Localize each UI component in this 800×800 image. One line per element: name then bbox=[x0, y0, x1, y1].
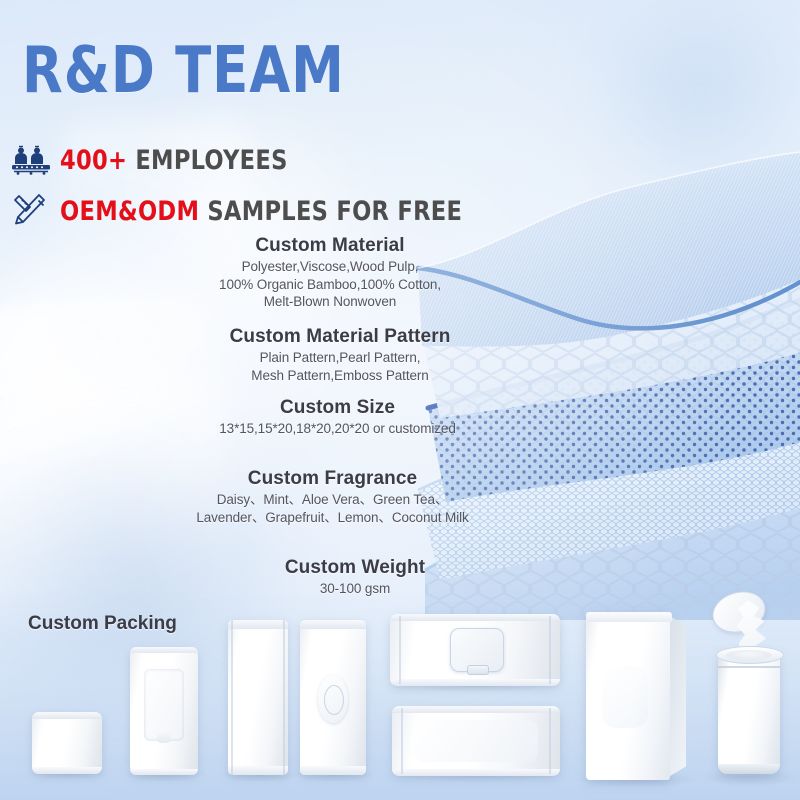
wide-pack-with-flip-lid bbox=[390, 614, 560, 686]
spec-custom-size-title: Custom Size bbox=[205, 396, 470, 420]
spec-custom-fragrance: Custom Fragrance Daisy、Mint、Aloe Vera、Gr… bbox=[195, 467, 470, 526]
badge-employees-label: 400+ EMPLOYEES bbox=[60, 145, 288, 176]
canister-open-lid bbox=[708, 585, 771, 638]
spec-custom-material: Custom Material Polyester,Viscose,Wood P… bbox=[200, 234, 460, 311]
spec-custom-weight-line-1: 30-100 gsm bbox=[250, 580, 460, 598]
plastic-flip-lid bbox=[450, 628, 504, 672]
spec-custom-material-pattern: Custom Material Pattern Plain Pattern,Pe… bbox=[215, 325, 465, 384]
tall-pouch-flip-label bbox=[144, 669, 184, 741]
oval-lid bbox=[318, 675, 348, 723]
flat-pouch-plain bbox=[228, 620, 288, 775]
spec-custom-fragrance-title: Custom Fragrance bbox=[195, 467, 470, 491]
badge-employees-count: 400+ bbox=[60, 145, 127, 176]
wide-flat-pack bbox=[392, 706, 560, 776]
gusset-side-panel bbox=[670, 616, 686, 776]
spec-custom-size-line-1: 13*15,15*20,18*20,20*20 or customized bbox=[205, 420, 470, 438]
badge-oem-odm-text: SAMPLES FOR FREE bbox=[199, 196, 462, 227]
spec-custom-material-pattern-line-1: Plain Pattern,Pearl Pattern, bbox=[215, 349, 465, 367]
spec-custom-material-pattern-line-2: Mesh Pattern,Emboss Pattern bbox=[215, 367, 465, 385]
pencil-ruler-design-icon bbox=[10, 192, 52, 231]
badge-oem-odm-label: OEM&ODM SAMPLES FOR FREE bbox=[60, 196, 462, 227]
flip-lid-latch bbox=[467, 665, 489, 675]
badge-employees: 400+ EMPLOYEES bbox=[10, 141, 305, 180]
flat-pouch-with-oval-lid bbox=[300, 620, 366, 775]
small-sachet-pack bbox=[32, 712, 102, 774]
badge-oem-odm: OEM&ODM SAMPLES FOR FREE bbox=[10, 192, 492, 231]
factory-workers-icon bbox=[10, 141, 52, 180]
cylinder-canister-with-wipe bbox=[710, 592, 788, 782]
spec-custom-material-line-3: Melt-Blown Nonwoven bbox=[200, 293, 460, 311]
spec-custom-material-line-2: 100% Organic Bamboo,100% Cotton, bbox=[200, 276, 460, 294]
page-title: R&D TEAM bbox=[22, 34, 345, 108]
poster-canvas: R&D TEAM bbox=[0, 0, 800, 800]
spec-custom-material-pattern-title: Custom Material Pattern bbox=[215, 325, 465, 349]
tall-flow-pouch-with-label bbox=[130, 647, 198, 775]
spec-custom-material-line-1: Polyester,Viscose,Wood Pulp, bbox=[200, 258, 460, 276]
spec-custom-material-title: Custom Material bbox=[200, 234, 460, 258]
spec-custom-fragrance-line-1: Daisy、Mint、Aloe Vera、Green Tea、 bbox=[195, 491, 470, 509]
spec-custom-weight-title: Custom Weight bbox=[250, 556, 460, 580]
standing-gusset-bag bbox=[586, 612, 686, 780]
badge-oem-odm-highlight: OEM&ODM bbox=[60, 196, 199, 227]
custom-packing-label: Custom Packing bbox=[28, 613, 177, 635]
spec-custom-fragrance-line-2: Lavender、Grapefruit、Lemon、Coconut Milk bbox=[195, 509, 470, 527]
spec-custom-weight: Custom Weight 30-100 gsm bbox=[250, 556, 460, 598]
spec-custom-size: Custom Size 13*15,15*20,18*20,20*20 or c… bbox=[205, 396, 470, 438]
badge-employees-text: EMPLOYEES bbox=[127, 145, 287, 176]
